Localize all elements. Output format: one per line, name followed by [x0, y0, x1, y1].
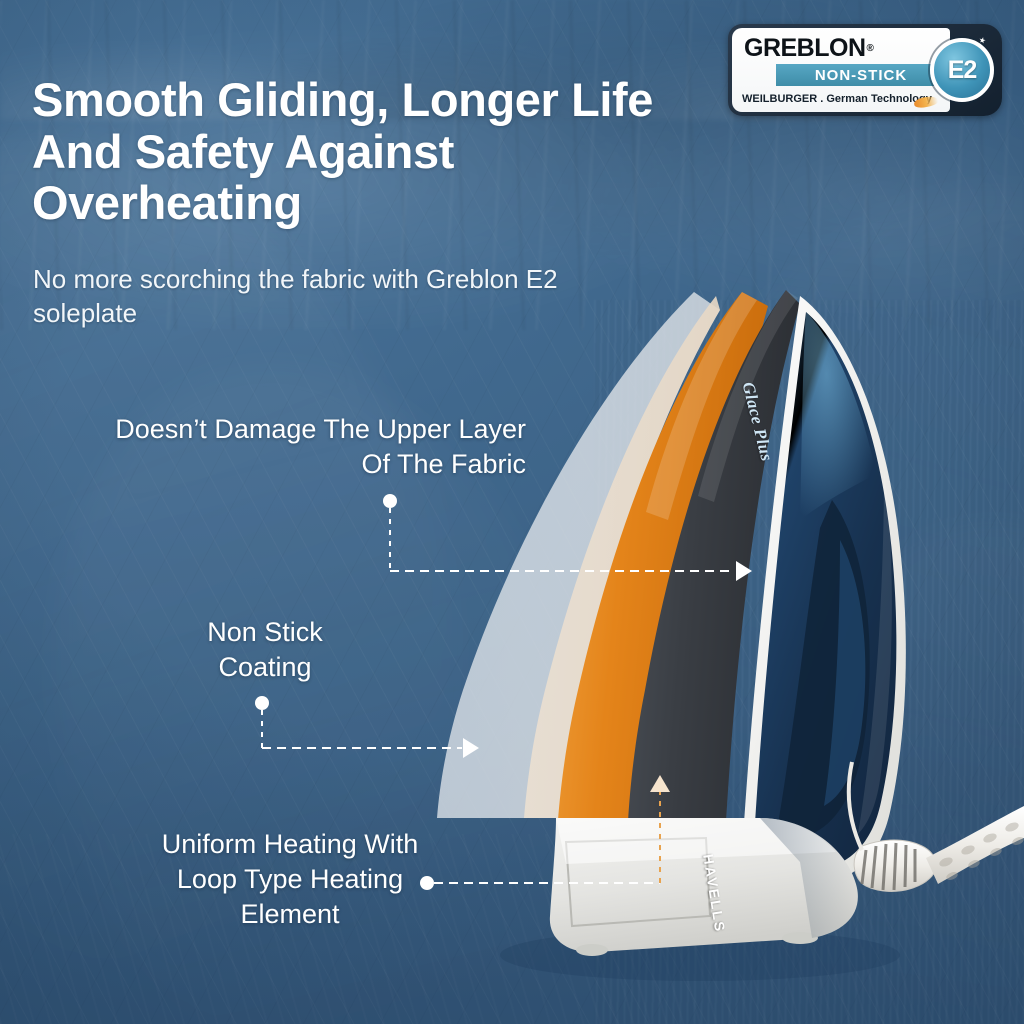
- leader-line-upper-layer: [383, 494, 752, 581]
- greblon-certification-badge[interactable]: ★ ★ ★ ★ GREBLON® NON-STICK WEILBURGER . …: [728, 24, 1002, 116]
- badge-brand-name: GREBLON®: [744, 34, 944, 62]
- badge-company-line: WEILBURGER . German Technology: [742, 88, 942, 110]
- badge-brand-text: GREBLON: [744, 34, 866, 63]
- registered-trademark-icon: ®: [867, 43, 874, 54]
- poster-canvas: Glace Plus HAVELLS ★ ★ ★: [0, 0, 1024, 1024]
- callout-upper-layer: Doesn’t Damage The Upper Layer Of The Fa…: [106, 412, 526, 482]
- leader-line-non-stick: [255, 696, 479, 758]
- callout-non-stick: Non Stick Coating: [180, 615, 350, 685]
- callout-uniform-heating: Uniform Heating With Loop Type Heating E…: [150, 827, 430, 932]
- badge-tagline: NON-STICK: [776, 64, 946, 86]
- badge-grade: E2: [930, 38, 994, 102]
- badge-white-plate: GREBLON® NON-STICK WEILBURGER . German T…: [732, 28, 950, 112]
- leader-line-uniform-heating: [420, 775, 670, 890]
- page-title: Smooth Gliding, Longer Life And Safety A…: [32, 74, 692, 229]
- page-subtitle: No more scorching the fabric with Greblo…: [33, 262, 593, 331]
